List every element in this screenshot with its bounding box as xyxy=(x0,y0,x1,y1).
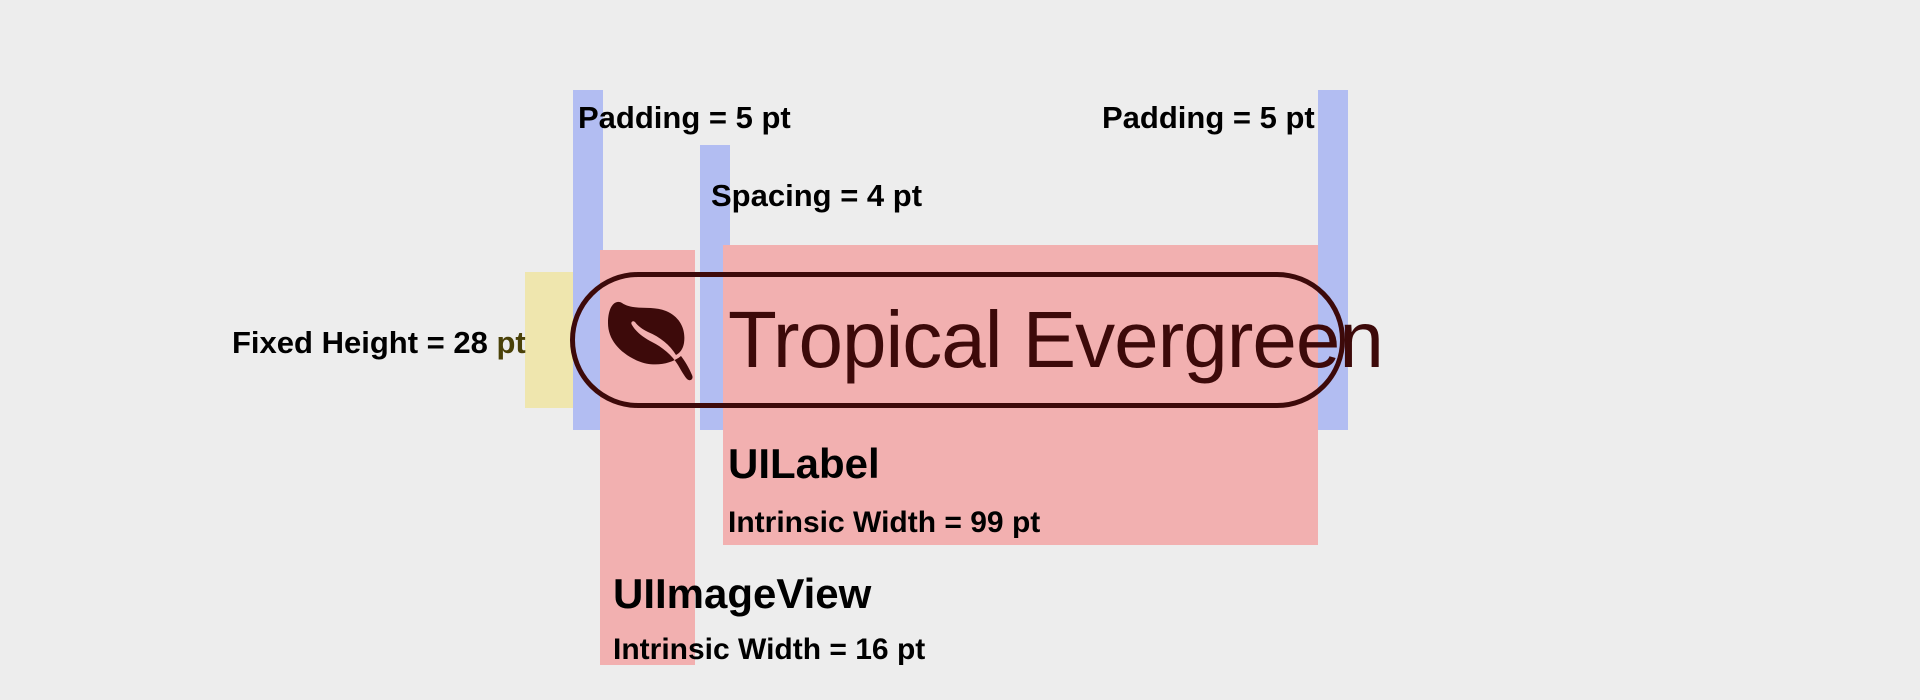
label-class-annotation: UILabel xyxy=(728,440,880,488)
control-title-text: Tropical Evergreen xyxy=(728,272,1383,408)
fixed-height-annotation-text: Fixed Height = 28 xyxy=(232,325,496,360)
diagram-canvas: Tropical Evergreen Padding = 5 pt Paddin… xyxy=(0,0,1920,700)
leaf-icon xyxy=(600,285,700,385)
fixed-height-annotation: Fixed Height = 28 pt xyxy=(232,325,526,361)
fixed-height-band xyxy=(525,272,573,408)
fixed-height-annotation-unit: pt xyxy=(496,325,525,360)
padding-right-annotation: Padding = 5 pt xyxy=(1102,100,1315,136)
imageview-intrinsic-width-annotation: Intrinsic Width = 16 pt xyxy=(613,633,925,667)
label-intrinsic-width-annotation: Intrinsic Width = 99 pt xyxy=(728,506,1040,540)
imageview-class-annotation: UIImageView xyxy=(613,570,871,618)
padding-left-annotation: Padding = 5 pt xyxy=(578,100,791,136)
spacing-annotation: Spacing = 4 pt xyxy=(711,178,922,214)
